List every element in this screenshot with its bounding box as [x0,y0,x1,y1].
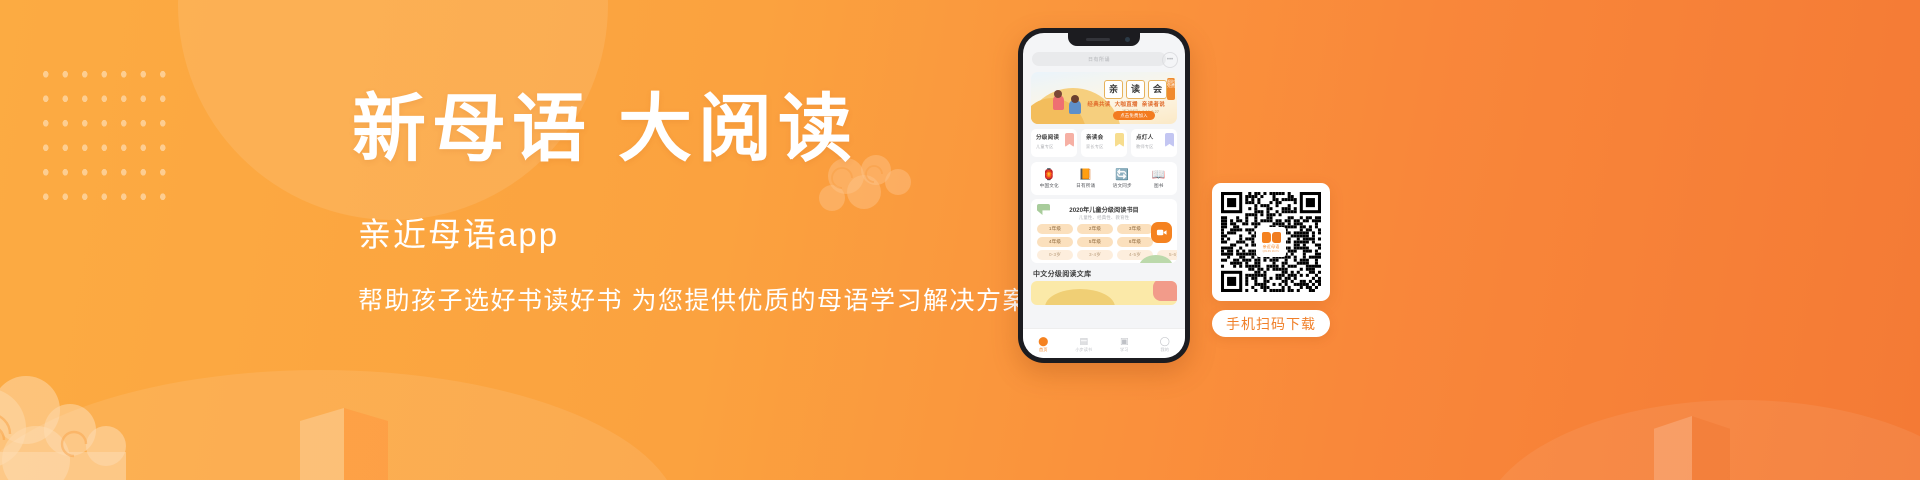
quick-icon-label: 语文同步 [1106,183,1138,189]
promo-ribbon: 限时免费 [1167,78,1175,100]
book-icon: 📖 [1143,169,1175,181]
profile-icon: ◯ [1148,336,1182,346]
qr-center-logo: 亲近母语 QINJIN MUYU [1256,227,1286,257]
decorative-dot-grid [36,62,172,210]
decorative-cube-right [1654,416,1730,480]
promo-cta-button[interactable]: 点击免费加入 [1113,111,1155,120]
quick-icon-sync[interactable]: 🔄 语文同步 [1106,169,1138,189]
library-shape-a [1045,289,1115,305]
grade-tag[interactable]: 2年级 [1077,224,1113,234]
phone-mockup: 日有所诵 ••• 亲 读 会 限时免费 经典共读 大咖直播 亲读者说 [1018,28,1190,363]
promo-feature: 亲读者说 [1142,100,1165,108]
grade-tag[interactable]: 6年级 [1117,237,1153,247]
promo-title-char: 读 [1126,80,1145,99]
grade-tag[interactable]: 5年级 [1077,237,1113,247]
banner-subhead: 亲近母语app [358,218,1052,251]
library-shape-b [1153,281,1177,301]
headline-part-right: 大阅读 [618,86,858,172]
promo-features: 经典共读 大咖直播 亲读者说 [1087,100,1165,108]
video-play-icon[interactable] [1151,222,1172,243]
banner-headline: 新母语大阅读 [352,92,1052,166]
app-promo-banner[interactable]: 亲 读 会 限时免费 经典共读 大咖直播 亲读者说 活动时间：9.16-9.27… [1031,72,1177,124]
age-tag[interactable]: 3-4岁 [1077,250,1113,260]
grade-tag[interactable]: 1年级 [1037,224,1073,234]
promo-feature: 经典共读 [1087,100,1110,108]
sync-icon: 🔄 [1106,169,1138,181]
ellipsis-icon[interactable]: ••• [1162,52,1178,68]
category-card[interactable]: 亲读会 家长专区 [1081,129,1127,157]
decorative-hill-right [1480,400,1920,480]
quick-icon-book[interactable]: 📖 图书 [1143,169,1175,189]
app-bottom-nav: ⬤ 首页 ▤ 小步读书 ▣ 学习 ◯ 我的 [1023,328,1185,358]
quick-icon-lantern[interactable]: 🏮 中国文化 [1033,169,1065,189]
app-library-strip[interactable] [1031,281,1177,305]
nav-item-label: 小步读书 [1067,347,1101,353]
download-button[interactable]: 手机扫码下载 [1212,310,1330,337]
age-tag[interactable]: 0-3岁 [1037,250,1073,260]
decorative-cube-left [300,408,388,480]
booklist-subtitle: 儿童性、经典性、教育性 [1031,215,1177,221]
qr-code: 亲近母语 QINJIN MUYU [1221,192,1321,292]
promo-title: 亲 读 会 [1104,80,1167,99]
nav-item-label: 学习 [1107,347,1141,353]
app-search-input[interactable]: 日有所诵 [1032,52,1166,66]
banner-copy: 新母语大阅读 亲近母语app 帮助孩子选好书读好书 为您提供优质的母语学习解决方… [352,92,1052,314]
category-card[interactable]: 点灯人 教师专区 [1131,129,1177,157]
book-orange-icon: 📙 [1070,169,1102,181]
nav-item-profile[interactable]: ◯ 我的 [1148,336,1182,354]
qr-logo-pinyin: QINJIN MUYU [1263,250,1280,253]
banner-tagline: 帮助孩子选好书读好书 为您提供优质的母语学习解决方案 [358,289,1052,314]
quick-icon-book-orange[interactable]: 📙 日有所诵 [1070,169,1102,189]
quick-icon-label: 日有所诵 [1070,183,1102,189]
promo-banner: 新母语大阅读 亲近母语app 帮助孩子选好书读好书 为您提供优质的母语学习解决方… [0,0,1920,480]
lantern-icon: 🏮 [1033,169,1065,181]
booklist-title: 2020年儿童分级阅读书目 [1031,205,1177,214]
promo-child-illustration-1 [1053,95,1064,110]
decorative-cloud-icon [0,360,196,480]
promo-title-char: 会 [1148,80,1167,99]
category-card[interactable]: 分级阅读 儿童专区 [1031,129,1077,157]
app-booklist-card: 2020年儿童分级阅读书目 儿童性、经典性、教育性 1年级 2年级 3年级 4年… [1031,199,1177,263]
study-icon: ▣ [1107,336,1141,346]
promo-feature: 大咖直播 [1115,100,1138,108]
app-category-cards: 分级阅读 儿童专区 亲读会 家长专区 点灯人 教师专区 [1031,129,1177,157]
book-logo-icon [1262,232,1281,243]
grade-tag[interactable]: 4年级 [1037,237,1073,247]
app-section-title: 中文分级阅读文库 [1033,269,1091,279]
promo-child-illustration-2 [1069,100,1081,114]
nav-item-label: 我的 [1148,347,1182,353]
qr-code-container: 亲近母语 QINJIN MUYU [1212,183,1330,301]
nav-item-label: 首页 [1026,347,1060,353]
quick-icon-label: 中国文化 [1033,183,1065,189]
nav-item-home[interactable]: ⬤ 首页 [1026,336,1060,354]
decorative-hill-left [0,370,680,480]
phone-screen: 日有所诵 ••• 亲 读 会 限时免费 经典共读 大咖直播 亲读者说 [1023,33,1185,358]
phone-notch [1068,33,1140,46]
reading-icon: ▤ [1067,336,1101,346]
grade-tag[interactable]: 3年级 [1117,224,1153,234]
home-icon: ⬤ [1026,336,1060,346]
headline-part-left: 新母语 [352,86,592,172]
app-search-placeholder: 日有所诵 [1088,56,1110,63]
quick-icon-label: 图书 [1143,183,1175,189]
app-quick-icons: 🏮 中国文化 📙 日有所诵 🔄 语文同步 📖 图书 [1031,162,1177,195]
promo-title-char: 亲 [1104,80,1123,99]
nav-item-study[interactable]: ▣ 学习 [1107,336,1141,354]
nav-item-reading[interactable]: ▤ 小步读书 [1067,336,1101,354]
